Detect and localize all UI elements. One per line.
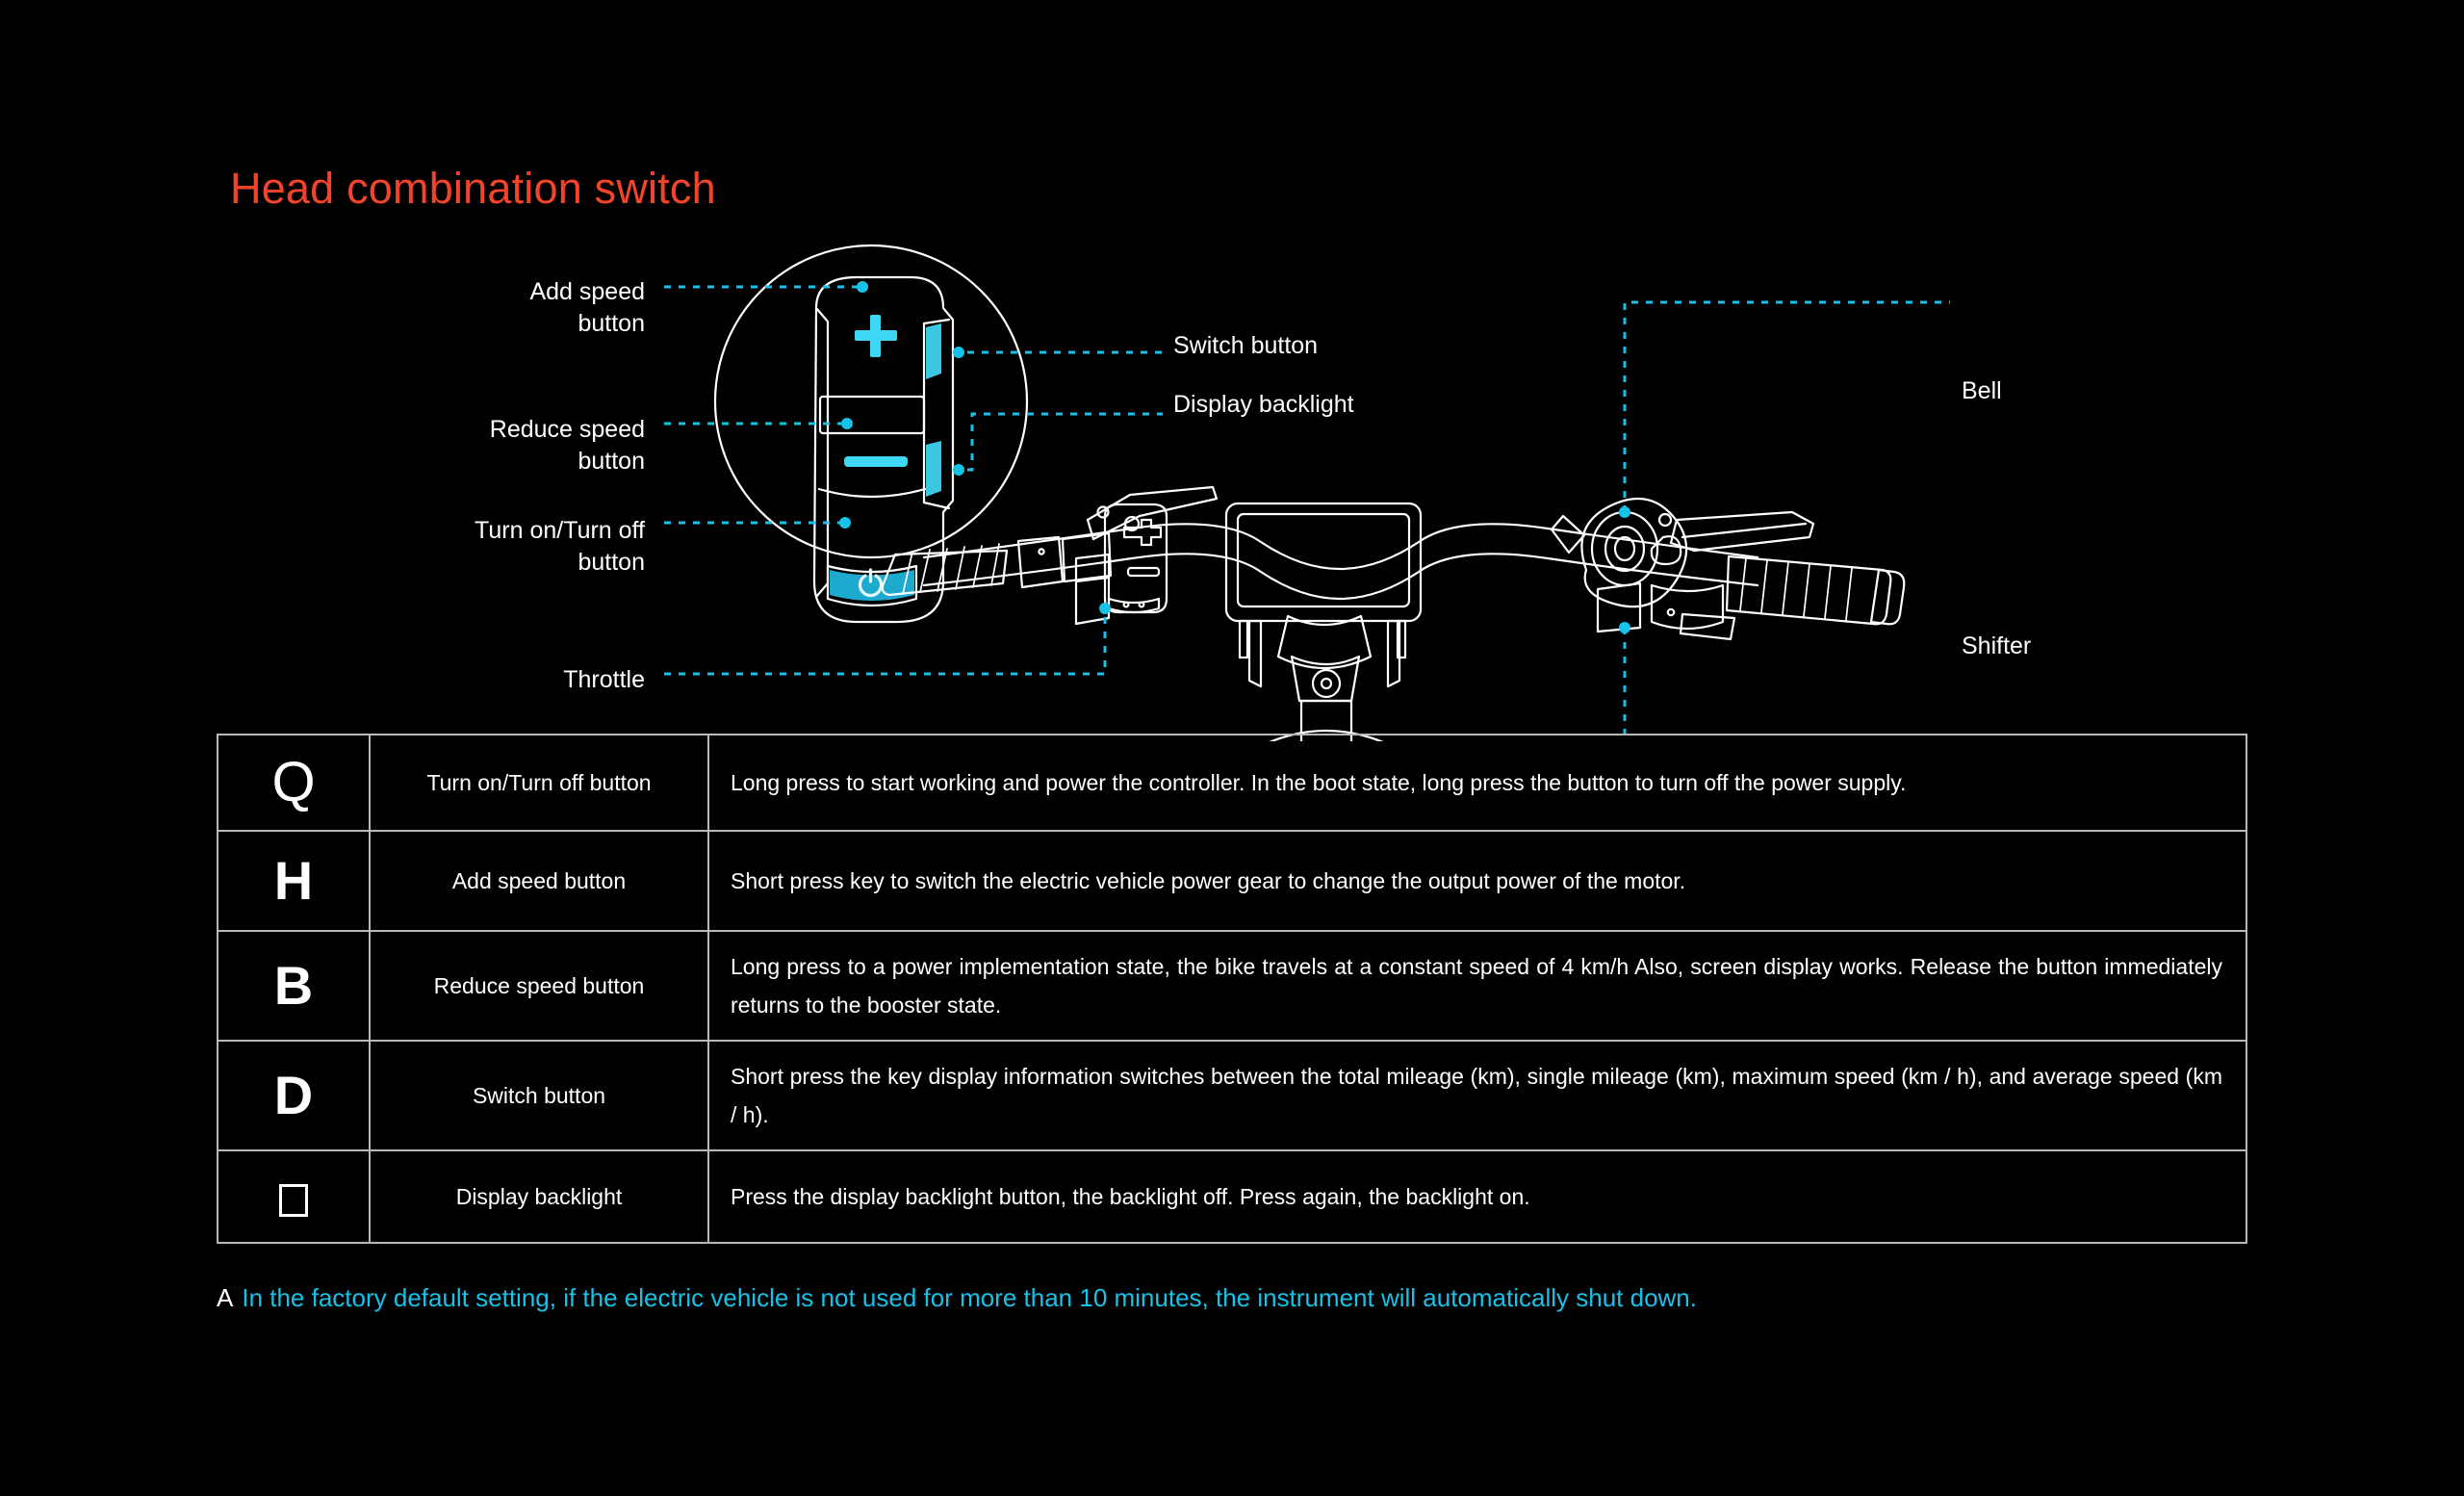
row-button-name: Add speed button xyxy=(370,831,708,931)
button-function-table: Q Turn on/Turn off button Long press to … xyxy=(217,734,2247,1244)
switch-key-highlight xyxy=(926,323,941,379)
table-row: Q Turn on/Turn off button Long press to … xyxy=(218,735,2246,831)
minus-icon xyxy=(844,456,908,467)
slide-root: Head combination switch xyxy=(0,0,2464,1496)
callout-reduce-speed-button: Reduce speed button xyxy=(346,414,645,477)
magnifier-circle xyxy=(715,245,1027,557)
callout-switch-button: Switch button xyxy=(1173,330,1491,362)
callout-display-backlight: Display backlight xyxy=(1173,389,1520,421)
row-glyph xyxy=(218,1150,370,1243)
row-description: Press the display backlight button, the … xyxy=(708,1150,2246,1243)
row-button-name: Reduce speed button xyxy=(370,931,708,1041)
bell-unit xyxy=(1552,499,1686,606)
display-backlight-square-icon xyxy=(279,1184,308,1217)
row-glyph: B xyxy=(218,931,370,1041)
callout-add-speed-button: Add speed button xyxy=(346,276,645,340)
row-description: Long press to a power implementation sta… xyxy=(708,931,2246,1041)
row-description: Long press to start working and power th… xyxy=(708,735,2246,831)
row-button-name: Turn on/Turn off button xyxy=(370,735,708,831)
callout-throttle: Throttle xyxy=(414,664,645,696)
row-description: Short press the key display information … xyxy=(708,1041,2246,1150)
footer-note-text: In the factory default setting, if the e… xyxy=(242,1283,1697,1312)
page-title: Head combination switch xyxy=(230,164,716,214)
callout-shifter: Shifter xyxy=(1962,631,2231,662)
callout-bell: Bell xyxy=(1962,375,2231,407)
footer-note: AIn the factory default setting, if the … xyxy=(217,1283,1697,1313)
display-unit xyxy=(1226,503,1421,658)
callout-turn-on-off-button: Turn on/Turn off button xyxy=(318,515,645,579)
row-glyph: H xyxy=(218,831,370,931)
table-row: H Add speed button Short press key to sw… xyxy=(218,831,2246,931)
row-glyph: Q xyxy=(218,735,370,831)
row-button-name: Switch button xyxy=(370,1041,708,1150)
row-button-name: Display backlight xyxy=(370,1150,708,1243)
handlebar-assembly xyxy=(883,487,1904,741)
row-glyph: D xyxy=(218,1041,370,1150)
table-row: B Reduce speed button Long press to a po… xyxy=(218,931,2246,1041)
row-description: Short press key to switch the electric v… xyxy=(708,831,2246,931)
table-row: D Switch button Short press the key disp… xyxy=(218,1041,2246,1150)
warning-triangle-icon: A xyxy=(217,1283,233,1312)
plus-icon xyxy=(855,315,897,357)
small-plus-icon xyxy=(1124,520,1161,545)
table-row: Display backlight Press the display back… xyxy=(218,1150,2246,1243)
backlight-key-highlight xyxy=(926,441,941,497)
